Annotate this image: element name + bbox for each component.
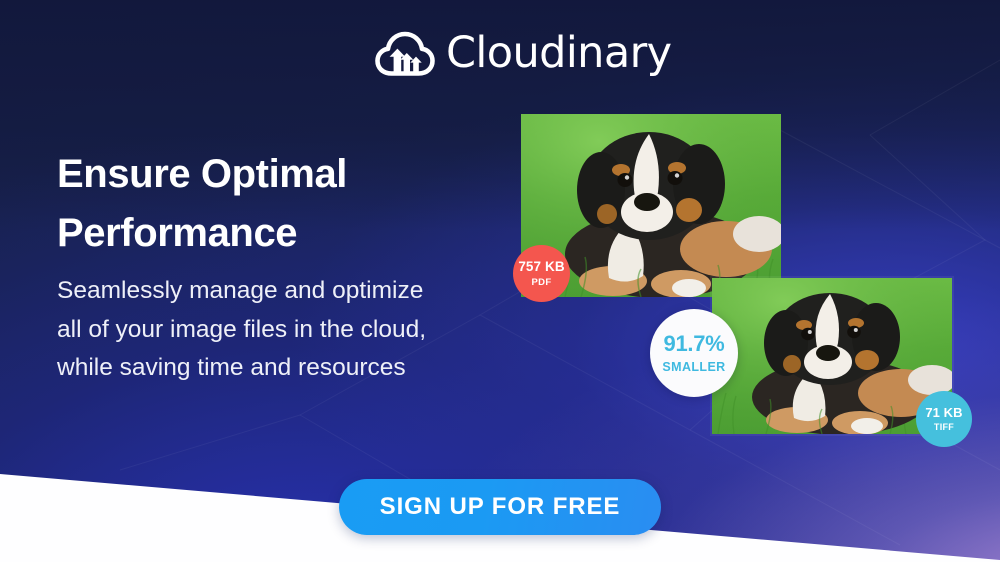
brand-logo[interactable]: Cloudinary [374, 28, 672, 78]
original-format-label: PDF [532, 278, 552, 288]
subcopy-line-2: all of your image files in the cloud, [57, 311, 527, 350]
headline-line-1: Ensure Optimal [57, 145, 487, 204]
headline-line-2: Performance [57, 204, 487, 263]
optimized-size-badge: 71 KB TIFF [916, 391, 972, 447]
cloud-with-upward-bars-icon [374, 28, 436, 78]
promo-banner: 757 KB PDF 91.7% SMALLER 71 KB TIFF Clou… [0, 0, 1000, 562]
brand-name: Cloudinary [446, 32, 672, 75]
optimized-format-label: TIFF [934, 423, 954, 432]
subcopy-line-3: while saving time and resources [57, 349, 527, 388]
subheading: Seamlessly manage and optimize all of yo… [57, 272, 527, 388]
page-title: Ensure Optimal Performance [57, 145, 487, 263]
savings-badge: 91.7% SMALLER [650, 309, 738, 397]
savings-caption: SMALLER [662, 361, 725, 374]
optimized-size-value: 71 KB [925, 406, 962, 419]
sign-up-button[interactable]: SIGN UP FOR FREE [339, 479, 661, 535]
subcopy-line-1: Seamlessly manage and optimize [57, 272, 527, 311]
savings-percent-value: 91.7% [664, 333, 725, 355]
